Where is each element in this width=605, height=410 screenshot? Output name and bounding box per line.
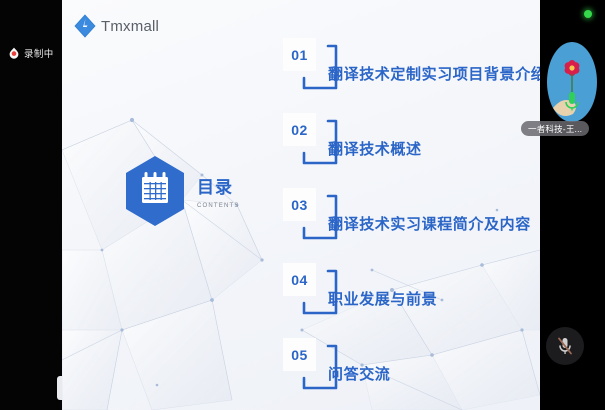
agenda-item[interactable]: 02 翻译技术概述 xyxy=(280,111,530,186)
participant-name: 一者科技-王... xyxy=(528,123,582,135)
agenda-label: 问答交流 xyxy=(328,363,390,384)
meeting-screen: 录制中 xyxy=(0,0,605,410)
agenda-item[interactable]: 04 职业发展与前景 xyxy=(280,261,530,336)
agenda-number-card: 03 xyxy=(283,188,316,221)
agenda-item[interactable]: 05 问答交流 xyxy=(280,336,530,410)
participant-name-badge: 一者科技-王... xyxy=(521,121,589,136)
agenda-number: 02 xyxy=(291,122,308,138)
agenda-number-card: 02 xyxy=(283,113,316,146)
left-rail: 录制中 xyxy=(0,0,62,410)
agenda-label: 翻译技术定制实习项目背景介绍 xyxy=(328,63,540,84)
record-drop-icon xyxy=(8,47,20,59)
recording-label: 录制中 xyxy=(24,46,54,60)
agenda-item[interactable]: 03 翻译技术实习课程简介及内容 xyxy=(280,186,530,261)
participant-video-tile[interactable] xyxy=(543,38,601,130)
connection-status-dot xyxy=(584,10,592,18)
agenda-number-card: 05 xyxy=(283,338,316,371)
agenda-item[interactable]: 01 翻译技术定制实习项目背景介绍 xyxy=(280,36,530,111)
microphone-muted-icon xyxy=(554,335,576,357)
mic-toggle-button[interactable] xyxy=(546,327,584,365)
contents-title-en: CONTENTS xyxy=(197,203,240,209)
agenda-number-card: 01 xyxy=(283,38,316,71)
agenda-list: 01 翻译技术定制实习项目背景介绍 02 翻译技术概述 xyxy=(280,36,530,410)
contents-title-cn: 目录 xyxy=(197,179,233,198)
agenda-number: 01 xyxy=(291,47,308,63)
presentation-slide: Tmxmall xyxy=(62,0,540,410)
agenda-number: 04 xyxy=(291,272,308,288)
agenda-label: 翻译技术实习课程简介及内容 xyxy=(328,213,531,234)
agenda-number-card: 04 xyxy=(283,263,316,296)
contents-heading: 目录 CONTENTS xyxy=(124,155,240,227)
agenda-label: 翻译技术概述 xyxy=(328,138,422,159)
recording-indicator: 录制中 xyxy=(8,46,54,60)
brand-name: Tmxmall xyxy=(101,18,159,35)
agenda-number: 03 xyxy=(291,197,308,213)
calendar-icon xyxy=(124,155,186,227)
brand-logo: Tmxmall xyxy=(74,14,159,38)
agenda-number: 05 xyxy=(291,347,308,363)
agenda-label: 职业发展与前景 xyxy=(328,288,437,309)
tmxmall-diamond-logo xyxy=(74,14,96,38)
